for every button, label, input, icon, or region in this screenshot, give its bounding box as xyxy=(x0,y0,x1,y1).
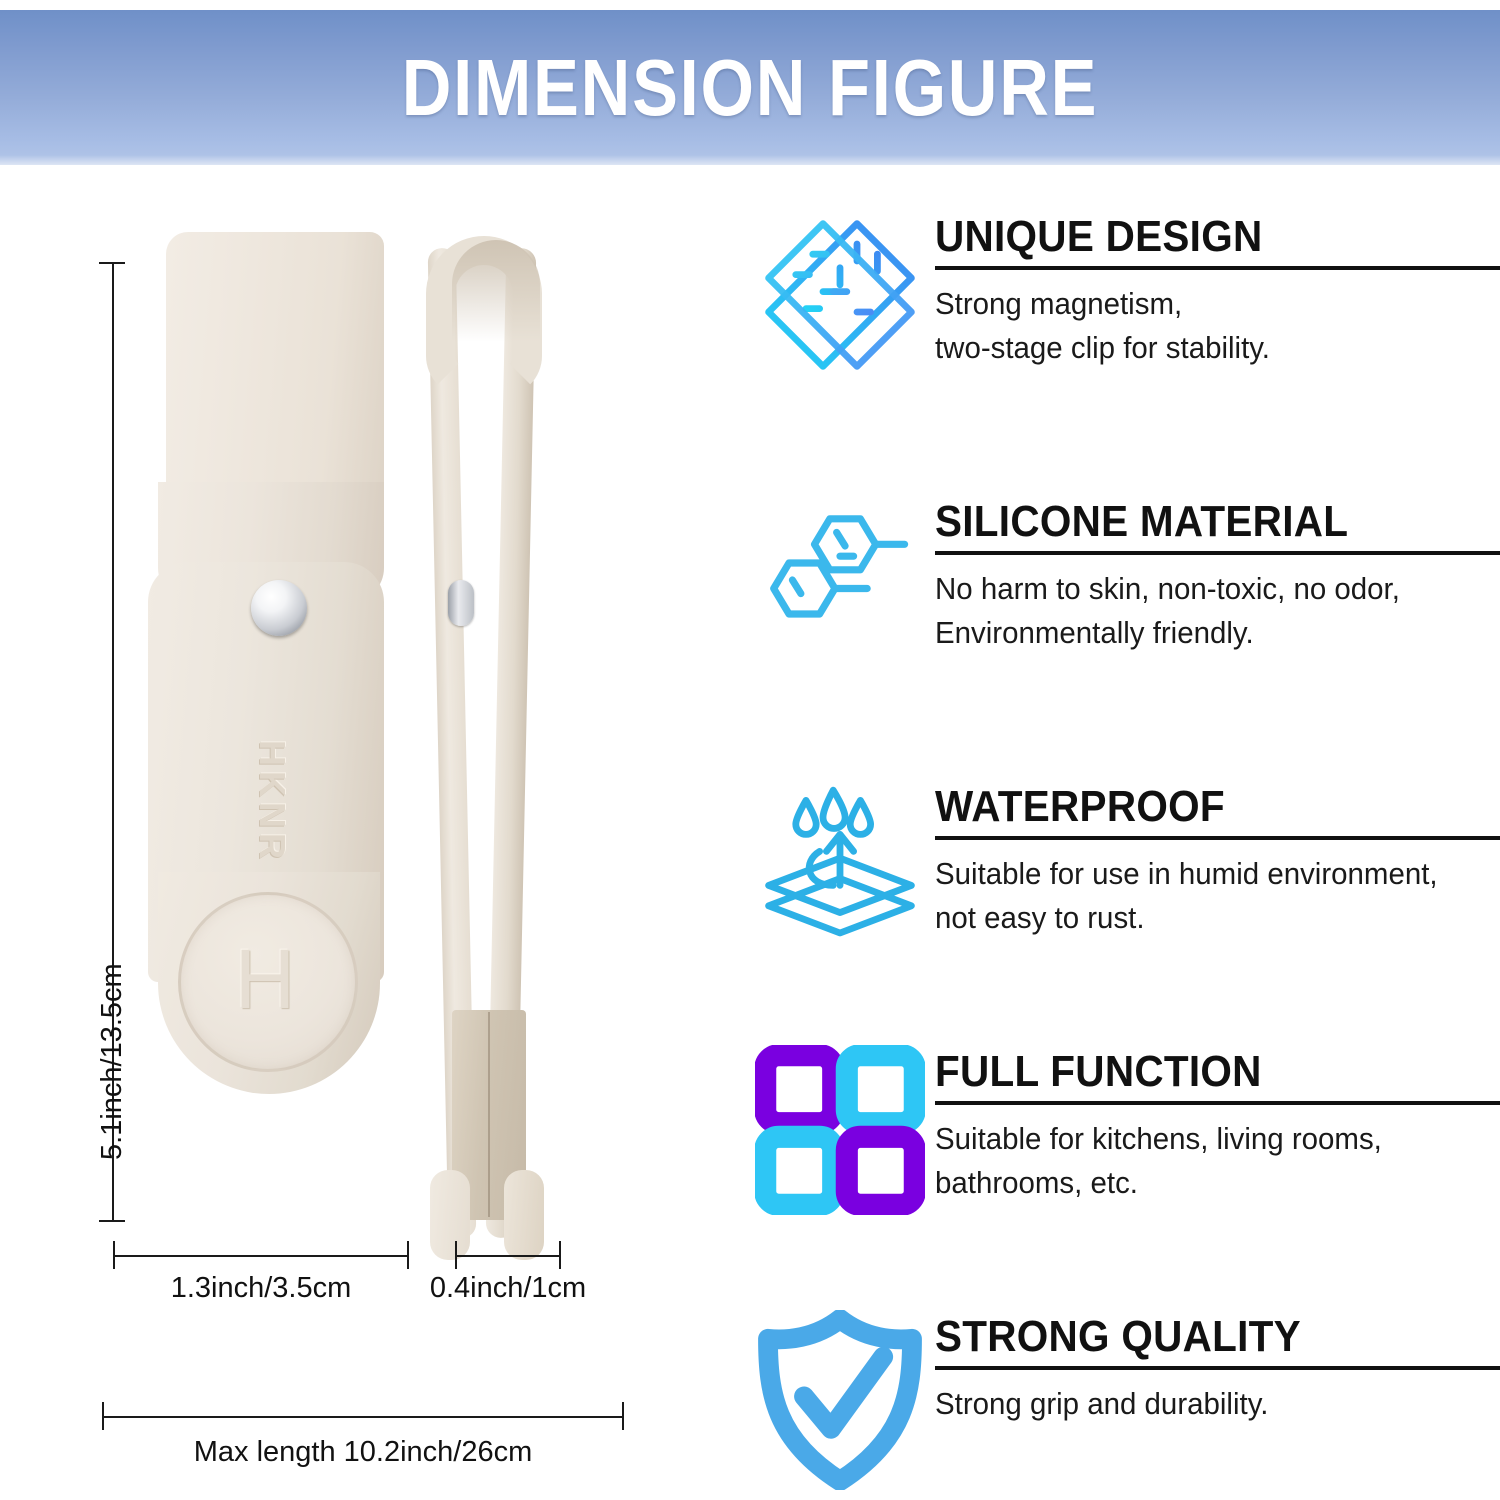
feature-text-waterproof: WATERPROOF Suitable for use in humid env… xyxy=(935,780,1500,940)
feature-underline xyxy=(935,836,1500,840)
width-tick-right xyxy=(407,1241,409,1269)
feature-description: No harm to skin, non-toxic, no odor, Env… xyxy=(935,567,1472,655)
feature-desc-line: bathrooms, etc. xyxy=(935,1161,1472,1205)
feature-desc-line: No harm to skin, non-toxic, no odor, xyxy=(935,567,1472,611)
width-tick-left xyxy=(113,1241,115,1269)
clip-foot-left xyxy=(430,1170,470,1260)
thickness-tick-left xyxy=(455,1241,457,1269)
feature-waterproof: WATERPROOF Suitable for use in humid env… xyxy=(745,780,1500,950)
maxlength-tick-right xyxy=(622,1402,624,1430)
feature-silicone-material: SILICONE MATERIAL No harm to skin, non-t… xyxy=(745,495,1500,665)
feature-desc-line: not easy to rust. xyxy=(935,896,1472,940)
feature-desc-line: two-stage clip for stability. xyxy=(935,326,1472,370)
logo-letter: H xyxy=(178,892,352,1066)
feature-description: Strong magnetism, two-stage clip for sta… xyxy=(935,282,1472,370)
thickness-label: 0.4inch/1cm xyxy=(425,1272,591,1305)
feature-desc-line: Strong magnetism, xyxy=(935,282,1472,326)
feature-description: Suitable for use in humid environment, n… xyxy=(935,852,1472,940)
feature-strong-quality: STRONG QUALITY Strong grip and durabilit… xyxy=(745,1310,1500,1490)
feature-title: STRONG QUALITY xyxy=(935,1314,1455,1360)
page-title: DIMENSION FIGURE xyxy=(105,10,1395,165)
height-tick-top xyxy=(99,262,125,264)
four-squares-grid-icon xyxy=(745,1045,935,1215)
feature-title: FULL FUNCTION xyxy=(935,1049,1455,1095)
feature-description: Suitable for kitchens, living rooms, bat… xyxy=(935,1117,1472,1205)
width-label: 1.3inch/3.5cm xyxy=(113,1272,409,1305)
thickness-tick-right xyxy=(559,1241,561,1269)
product-side-view xyxy=(400,240,580,1300)
brand-emboss: HKNR xyxy=(212,702,332,902)
feature-desc-line: Suitable for kitchens, living rooms, xyxy=(935,1117,1472,1161)
thickness-dimension-line xyxy=(455,1255,561,1257)
shield-check-icon xyxy=(745,1310,935,1490)
feature-text-silicone-material: SILICONE MATERIAL No harm to skin, non-t… xyxy=(935,495,1500,655)
maxlength-tick-left xyxy=(102,1402,104,1430)
clip-loop-shading xyxy=(452,240,540,360)
feature-text-unique-design: UNIQUE DESIGN Strong magnetism, two-stag… xyxy=(935,210,1500,370)
feature-underline xyxy=(935,1101,1500,1105)
maxlength-label: Max length 10.2inch/26cm xyxy=(102,1436,624,1469)
feature-desc-line: Environmentally friendly. xyxy=(935,611,1472,655)
infographic-page: DIMENSION FIGURE HKNR H xyxy=(0,0,1500,1500)
height-tick-bottom xyxy=(99,1220,125,1222)
feature-title: WATERPROOF xyxy=(935,784,1455,830)
feature-underline xyxy=(935,551,1500,555)
waterproof-layers-icon xyxy=(745,780,935,950)
clip-jaw-seam xyxy=(488,1012,490,1217)
feature-text-full-function: FULL FUNCTION Suitable for kitchens, liv… xyxy=(935,1045,1500,1205)
brand-emboss-text: HKNR xyxy=(251,740,293,864)
feature-desc-line: Suitable for use in humid environment, xyxy=(935,852,1472,896)
crossed-rulers-icon xyxy=(745,210,935,380)
feature-description: Strong grip and durability. xyxy=(935,1382,1472,1426)
feature-unique-design: UNIQUE DESIGN Strong magnetism, two-stag… xyxy=(745,210,1500,380)
feature-text-strong-quality: STRONG QUALITY Strong grip and durabilit… xyxy=(935,1310,1500,1426)
metal-rivet xyxy=(251,580,307,636)
height-label: 5.1inch/13.5cm xyxy=(96,963,129,1160)
side-rivet xyxy=(448,580,474,626)
feature-underline xyxy=(935,266,1500,270)
feature-full-function: FULL FUNCTION Suitable for kitchens, liv… xyxy=(745,1045,1500,1215)
product-front-view: HKNR H xyxy=(148,232,384,1092)
width-dimension-line xyxy=(113,1255,409,1257)
maxlength-dimension-line xyxy=(102,1416,624,1418)
molecule-hexagon-icon xyxy=(745,495,935,665)
clip-foot-right xyxy=(504,1170,544,1260)
feature-desc-line: Strong grip and durability. xyxy=(935,1382,1472,1426)
feature-underline xyxy=(935,1366,1500,1370)
feature-list: UNIQUE DESIGN Strong magnetism, two-stag… xyxy=(745,190,1500,1490)
product-diagram: HKNR H 5.1inch/13.5cm 1.3inch/3.5cm xyxy=(0,170,720,1500)
feature-title: SILICONE MATERIAL xyxy=(935,499,1455,545)
feature-title: UNIQUE DESIGN xyxy=(935,214,1455,260)
